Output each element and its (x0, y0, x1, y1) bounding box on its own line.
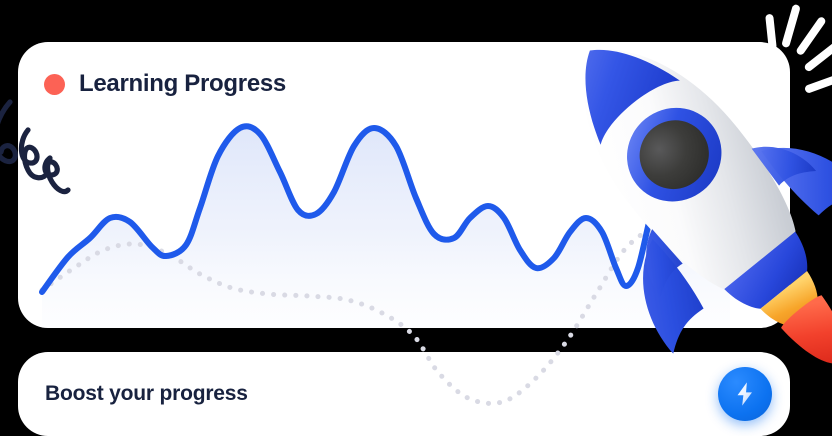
lightning-bolt-icon (731, 380, 759, 408)
hand-drawn-squiggle-icon (0, 108, 104, 204)
card-header: Learning Progress (44, 70, 286, 98)
speed-lines-icon (765, 4, 832, 94)
page-title: Learning Progress (79, 70, 286, 98)
screenshot-stage: Learning Progress (0, 0, 832, 436)
rocket-illustration (578, 0, 832, 376)
red-dot-icon (44, 74, 65, 95)
boost-title: Boost your progress (45, 382, 248, 406)
